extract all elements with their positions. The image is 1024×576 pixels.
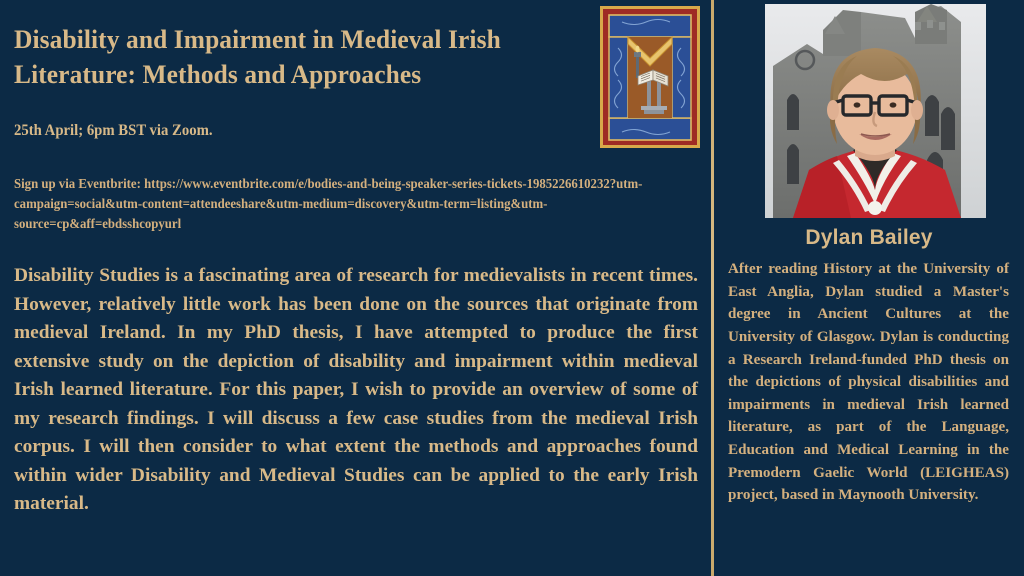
speaker-portrait-photo xyxy=(765,4,986,218)
event-poster: Disability and Impairment in Medieval Ir… xyxy=(0,0,1024,576)
abstract-paragraph: Disability Studies is a fascinating area… xyxy=(14,262,698,519)
event-datetime: 25th April; 6pm BST via Zoom. xyxy=(14,122,213,140)
speaker-bio: After reading History at the University … xyxy=(728,258,1009,507)
page-title: Disability and Impairment in Medieval Ir… xyxy=(14,22,571,92)
right-speaker-panel: Dylan Bailey After reading History at th… xyxy=(714,0,1024,576)
illuminated-manuscript-letter-icon xyxy=(600,6,700,148)
signup-link-text[interactable]: Sign up via Eventbrite: https://www.even… xyxy=(14,174,679,234)
speaker-name: Dylan Bailey xyxy=(714,226,1024,250)
